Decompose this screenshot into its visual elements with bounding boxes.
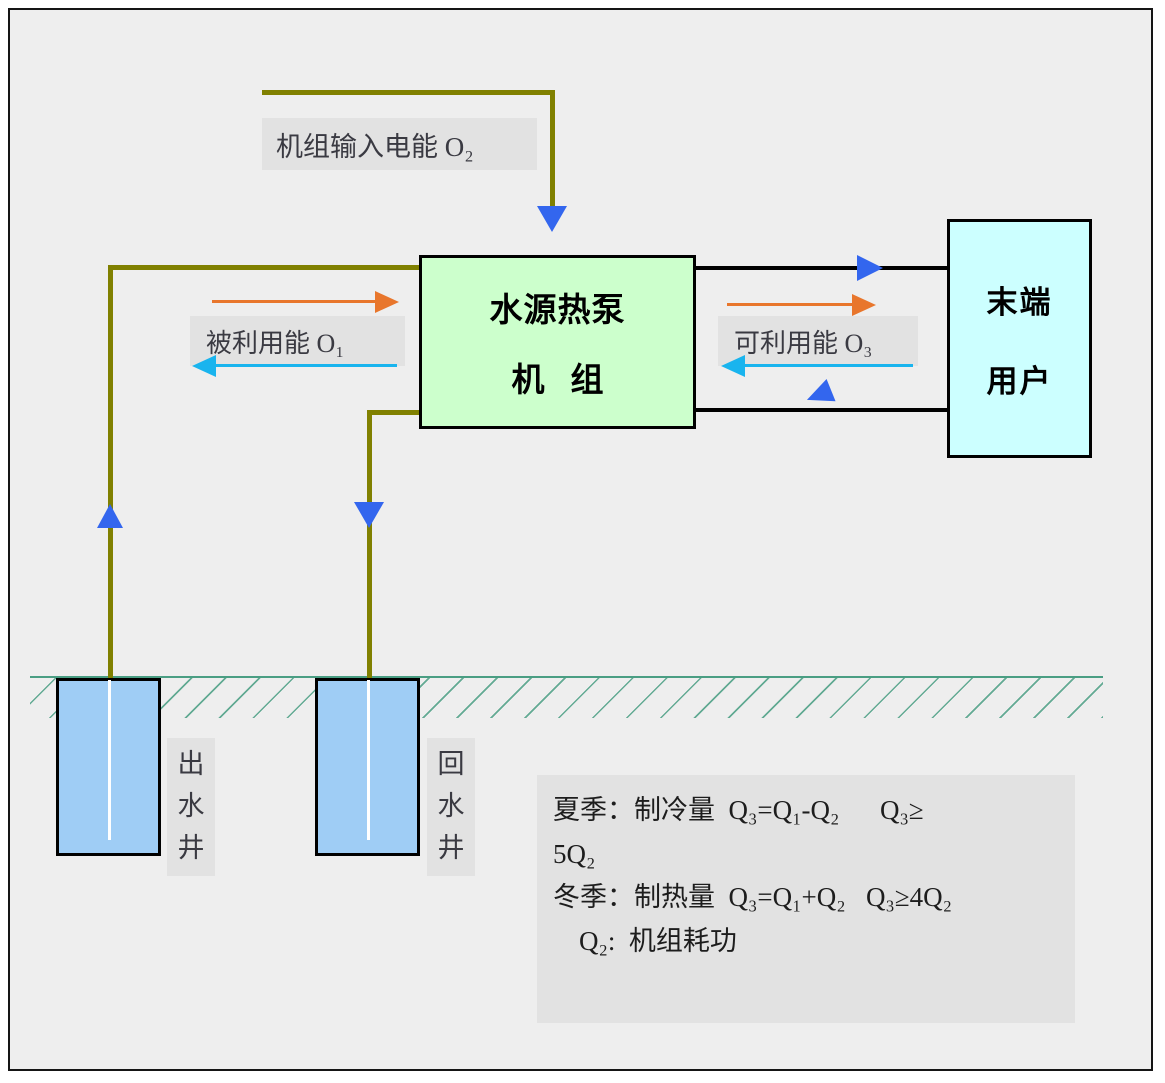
heat-pump-label-line2: 机组: [486, 353, 630, 401]
available-energy-return-flowline: [745, 364, 913, 367]
available-energy-return-arrow-icon: [721, 355, 745, 377]
end-user-label-line1: 末端: [987, 277, 1053, 322]
input-power-arrow-icon: [537, 206, 567, 232]
source-supply-pipe-horizontal: [108, 265, 421, 270]
injection-well-pipe: [367, 680, 370, 840]
extraction-well-label: 出水井: [167, 738, 215, 876]
input-power-pipe-horizontal: [262, 90, 555, 95]
input-power-label: 机组输入电能 O₂: [262, 118, 537, 170]
formula-line-q2-definition: Q₂: 机组耗功: [553, 920, 1059, 964]
load-return-arrow-icon: [802, 379, 835, 411]
extraction-well-pipe: [108, 680, 111, 840]
formula-note-box: 夏季：制冷量 Q₃=Q₁-Q₂ Q₃≥ 5Q₂ 冬季：制热量 Q₃=Q₁+Q₂ …: [537, 775, 1075, 1023]
source-return-pipe-horizontal: [367, 410, 421, 415]
load-supply-line: [693, 266, 949, 270]
formula-line-winter: 冬季：制热量 Q₃=Q₁+Q₂ Q₃≥4Q₂: [553, 876, 1059, 920]
used-energy-return-flowline: [216, 364, 397, 367]
source-supply-pipe-vertical: [108, 265, 113, 683]
source-supply-arrow-icon: [97, 504, 123, 528]
heat-pump-label-line1: 水源热泵: [490, 283, 626, 331]
water-source-heat-pump-diagram: 水源热泵 机组 末端 用户 出水井 回水井 机组输入电能 O₂ 被利用能 O₁ …: [0, 0, 1165, 1083]
used-energy-supply-flowline: [212, 300, 377, 303]
available-energy-supply-flowline: [727, 303, 855, 306]
ground-hatch: [30, 678, 1103, 718]
source-return-arrow-icon: [354, 502, 384, 528]
used-energy-label: 被利用能 O₁: [190, 316, 405, 366]
end-user-box[interactable]: 末端 用户: [947, 219, 1092, 458]
formula-line-summer-cont: 5Q₂: [553, 833, 1059, 877]
diagram-canvas: 水源热泵 机组 末端 用户 出水井 回水井 机组输入电能 O₂ 被利用能 O₁ …: [0, 0, 1165, 1083]
load-supply-arrow-icon: [857, 255, 883, 281]
heat-pump-unit-box[interactable]: 水源热泵 机组: [419, 255, 696, 429]
used-energy-return-arrow-icon: [192, 355, 216, 377]
used-energy-supply-arrow-icon: [375, 291, 399, 313]
load-return-line: [693, 408, 949, 412]
source-return-pipe-vertical: [367, 410, 372, 683]
input-power-pipe-vertical: [550, 90, 555, 209]
available-energy-supply-arrow-icon: [852, 294, 876, 316]
injection-well-label: 回水井: [427, 738, 475, 876]
available-energy-label: 可利用能 O₃: [718, 316, 918, 366]
end-user-label-line2: 用户: [987, 356, 1053, 401]
formula-line-summer: 夏季：制冷量 Q₃=Q₁-Q₂ Q₃≥: [553, 789, 1059, 833]
